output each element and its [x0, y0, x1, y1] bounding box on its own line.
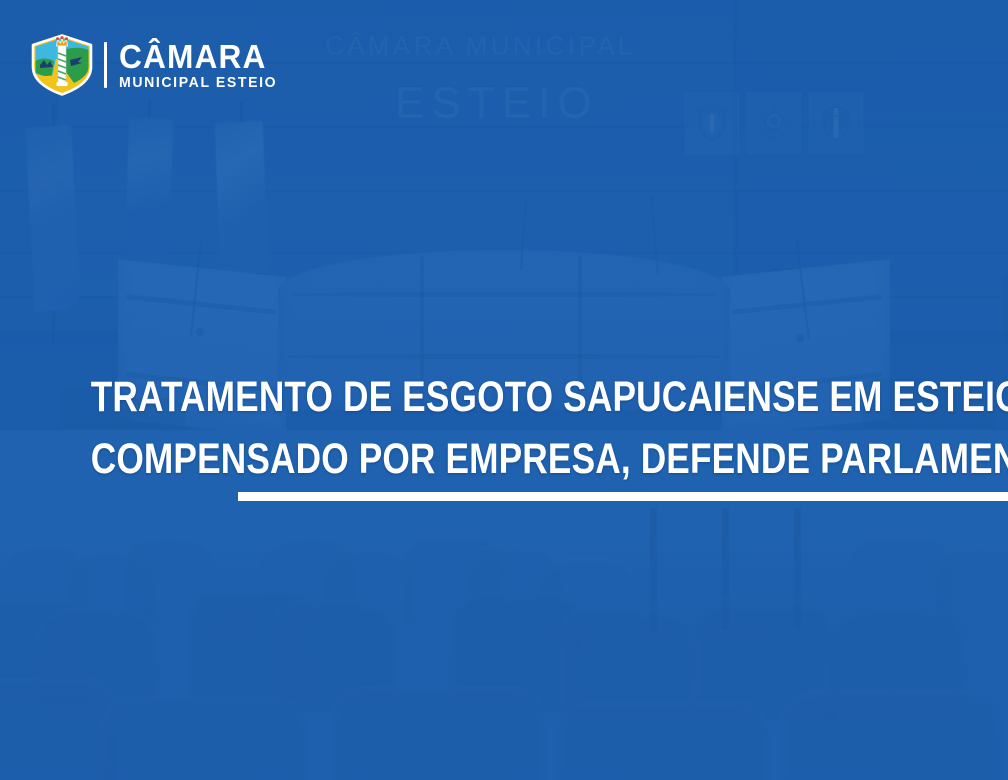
headline-line-2: COMPENSADO POR EMPRESA, DEFENDE PARLAMEN…	[91, 428, 918, 490]
headline-underline-rule	[238, 492, 1008, 501]
news-banner: CÂMARA MUNICIPAL ESTEIO	[0, 0, 1008, 780]
logo-wordmark: CÂMARA MUNICIPAL ESTEIO	[119, 40, 282, 91]
logo-title: CÂMARA	[119, 40, 276, 73]
esteio-coat-of-arms-shield-icon	[30, 34, 94, 96]
headline-line-1: TRATAMENTO DE ESGOTO SAPUCAIENSE EM ESTE…	[91, 366, 918, 428]
logo-subtitle: MUNICIPAL ESTEIO	[119, 76, 277, 91]
logo-divider	[104, 42, 107, 88]
camara-municipal-esteio-logo[interactable]: CÂMARA MUNICIPAL ESTEIO	[30, 34, 282, 96]
headline: TRATAMENTO DE ESGOTO SAPUCAIENSE EM ESTE…	[0, 366, 1008, 490]
